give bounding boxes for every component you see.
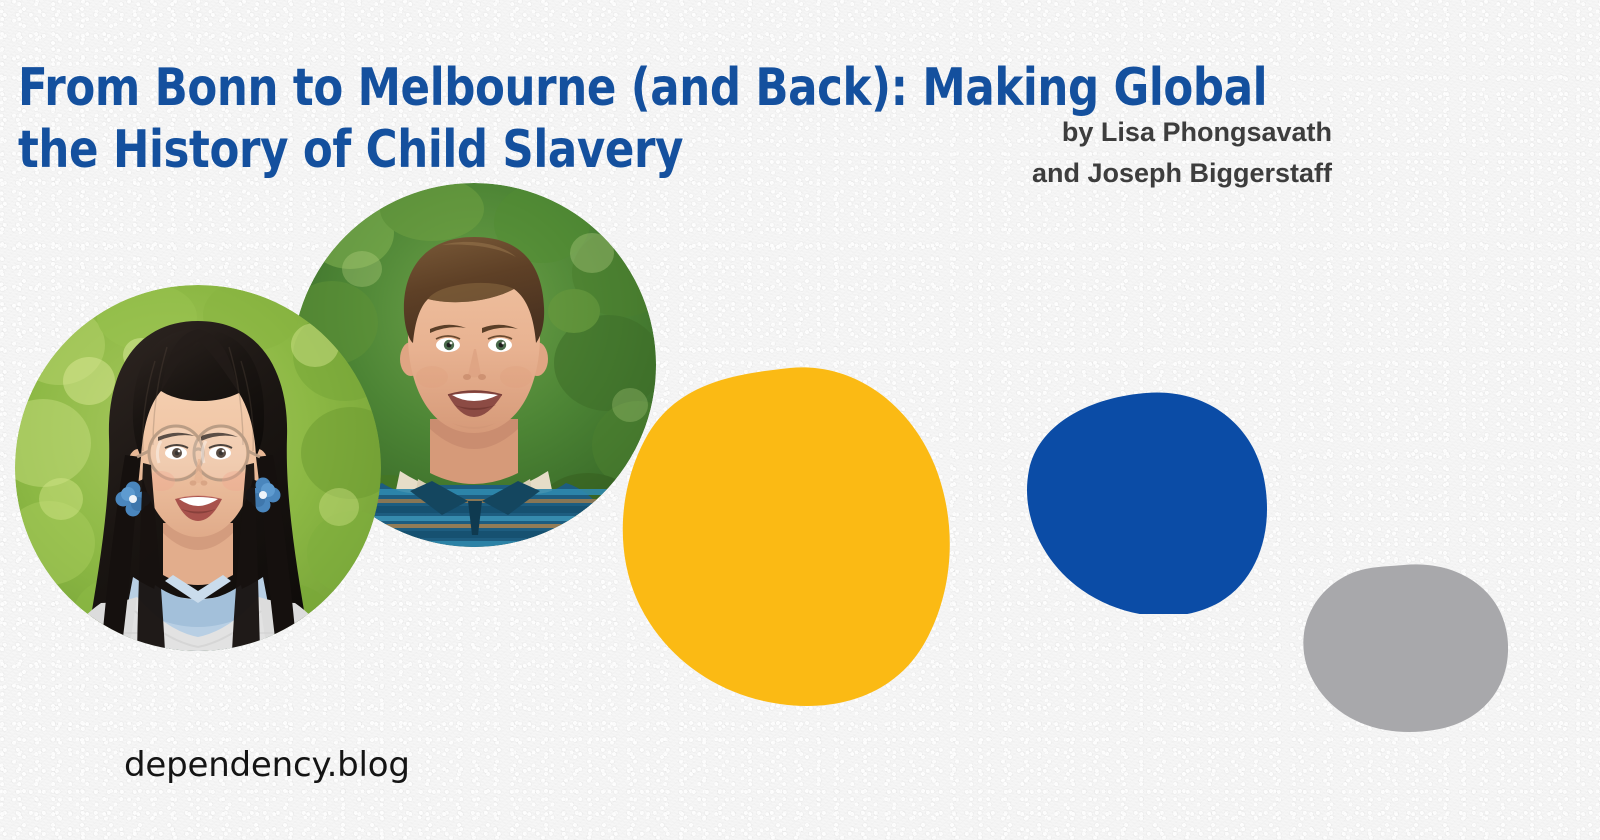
site-name[interactable]: dependency.blog [124,745,410,785]
decorative-blob-blue [1026,392,1268,614]
portrait-lisa-phongsavath [15,285,381,651]
decorative-blob-gray [1298,562,1510,734]
byline-author-2: and Joseph Biggerstaff [1032,153,1332,194]
decorative-blob-yellow [622,366,950,706]
blog-post-banner: From Bonn to Melbourne (and Back): Makin… [0,0,1600,840]
byline: by Lisa Phongsavath and Joseph Biggersta… [1032,112,1332,194]
byline-author-1: by Lisa Phongsavath [1032,112,1332,153]
